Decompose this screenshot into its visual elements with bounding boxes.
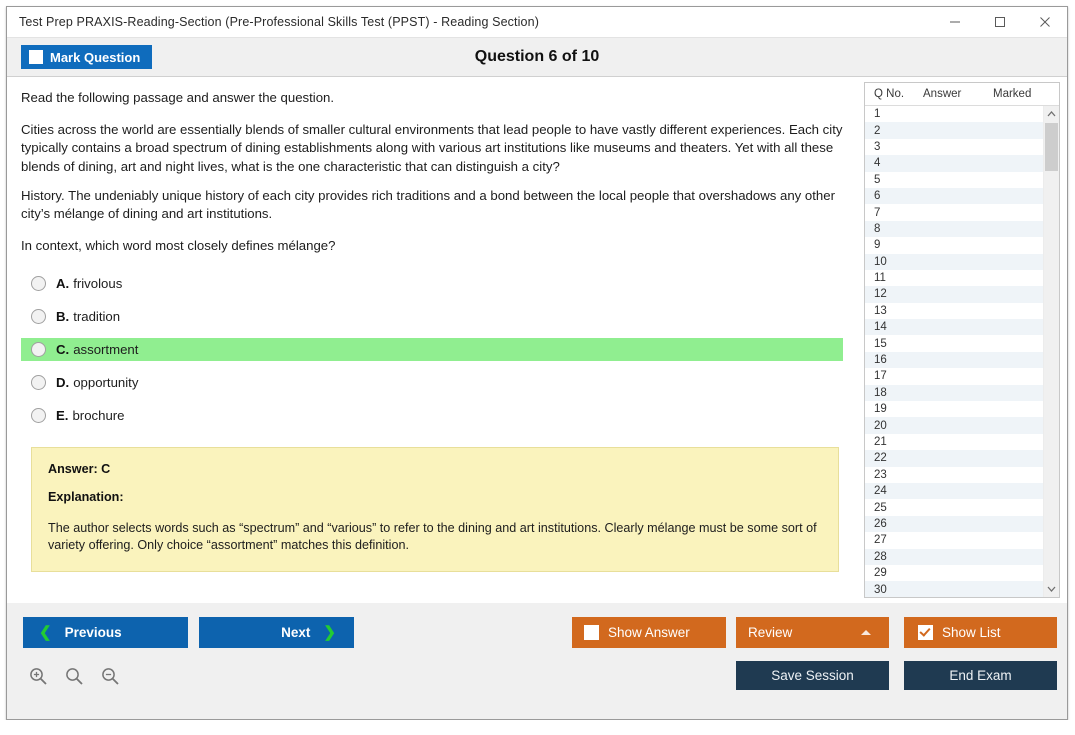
table-row[interactable]: 4 (865, 155, 1043, 171)
table-row[interactable]: 28 (865, 549, 1043, 565)
cell-qno: 12 (865, 288, 923, 300)
previous-label: Previous (65, 625, 122, 640)
answer-choice-b[interactable]: B. tradition (21, 305, 843, 328)
zoom-out-icon[interactable] (97, 663, 123, 689)
table-row[interactable]: 21 (865, 434, 1043, 450)
table-row[interactable]: 18 (865, 385, 1043, 401)
table-row[interactable]: 11 (865, 270, 1043, 286)
end-exam-button[interactable]: End Exam (904, 661, 1057, 690)
table-row[interactable]: 27 (865, 532, 1043, 548)
cell-qno: 27 (865, 534, 923, 546)
table-row[interactable]: 20 (865, 417, 1043, 433)
answer-label: Answer: C (48, 462, 822, 476)
exam-body: Read the following passage and answer th… (7, 76, 1067, 603)
zoom-in-icon[interactable] (25, 663, 51, 689)
column-header-answer: Answer (923, 88, 993, 100)
table-row[interactable]: 16 (865, 352, 1043, 368)
table-row[interactable]: 24 (865, 483, 1043, 499)
table-row[interactable]: 12 (865, 286, 1043, 302)
table-row[interactable]: 30 (865, 581, 1043, 597)
window-title-text: Test Prep PRAXIS-Reading-Section (Pre-Pr… (7, 15, 932, 29)
answer-choice-a[interactable]: A. frivolous (21, 272, 843, 295)
mark-question-button[interactable]: Mark Question (21, 45, 152, 69)
question-list-rows: 1234567891011121314151617181920212223242… (865, 106, 1043, 597)
question-pane: Read the following passage and answer th… (7, 77, 857, 603)
chevron-up-icon (861, 630, 871, 635)
maximize-icon[interactable] (977, 7, 1022, 37)
cell-qno: 9 (865, 239, 923, 251)
answer-choice-e[interactable]: E. brochure (21, 404, 843, 427)
question-list-header: Q No. Answer Marked (865, 83, 1059, 106)
question-list-panel: Q No. Answer Marked 12345678910111213141… (864, 82, 1060, 598)
cell-qno: 10 (865, 256, 923, 268)
cell-qno: 3 (865, 141, 923, 153)
question-stem: In context, which word most closely defi… (21, 237, 843, 255)
show-answer-checkbox-icon (584, 625, 599, 640)
next-label: Next (281, 625, 310, 640)
save-session-label: Save Session (771, 668, 854, 683)
choice-text-a: frivolous (73, 276, 122, 291)
table-row[interactable]: 25 (865, 499, 1043, 515)
table-row[interactable]: 1 (865, 106, 1043, 122)
chevron-right-icon: ❯ (323, 625, 336, 640)
cell-qno: 13 (865, 305, 923, 317)
zoom-reset-icon[interactable] (61, 663, 87, 689)
question-list-scrollbar[interactable] (1043, 106, 1059, 597)
cell-qno: 23 (865, 469, 923, 481)
zoom-controls (25, 663, 123, 689)
choice-text-c: assortment (73, 342, 138, 357)
radio-icon-b[interactable] (31, 309, 46, 324)
cell-qno: 6 (865, 190, 923, 202)
table-row[interactable]: 5 (865, 172, 1043, 188)
exam-application-window: Test Prep PRAXIS-Reading-Section (Pre-Pr… (6, 6, 1068, 720)
table-row[interactable]: 7 (865, 204, 1043, 220)
explanation-label: Explanation: (48, 490, 822, 504)
cell-qno: 18 (865, 387, 923, 399)
choice-letter-e: E. (56, 408, 68, 423)
chevron-left-icon: ❮ (39, 625, 52, 640)
cell-qno: 20 (865, 420, 923, 432)
cell-qno: 30 (865, 584, 923, 596)
cell-qno: 16 (865, 354, 923, 366)
scroll-down-arrow-icon[interactable] (1044, 581, 1059, 597)
choice-letter-c: C. (56, 342, 69, 357)
choice-letter-a: A. (56, 276, 69, 291)
cell-qno: 1 (865, 108, 923, 120)
cell-qno: 26 (865, 518, 923, 530)
cell-qno: 28 (865, 551, 923, 563)
cell-qno: 21 (865, 436, 923, 448)
exam-footer: ❮ Previous Next ❯ Show Answer Review Sho… (7, 603, 1067, 717)
end-exam-label: End Exam (949, 668, 1011, 683)
radio-icon-c[interactable] (31, 342, 46, 357)
cell-qno: 2 (865, 125, 923, 137)
cell-qno: 14 (865, 321, 923, 333)
desktop-taskbar-strip (0, 720, 1075, 735)
mark-question-label: Mark Question (50, 50, 140, 65)
answer-choice-list: A. frivolous B. tradition C. assortment … (21, 272, 843, 427)
table-row[interactable]: 26 (865, 516, 1043, 532)
table-row[interactable]: 19 (865, 401, 1043, 417)
show-answer-label: Show Answer (608, 625, 690, 640)
column-header-qno: Q No. (865, 88, 923, 100)
table-row[interactable]: 17 (865, 368, 1043, 384)
table-row[interactable]: 2 (865, 122, 1043, 138)
cell-qno: 24 (865, 485, 923, 497)
choice-letter-b: B. (56, 309, 69, 324)
table-row[interactable]: 14 (865, 319, 1043, 335)
cell-qno: 4 (865, 157, 923, 169)
show-list-button[interactable]: Show List (904, 617, 1057, 648)
answer-choice-d[interactable]: D. opportunity (21, 371, 843, 394)
minimize-icon[interactable] (932, 7, 977, 37)
table-row[interactable]: 29 (865, 565, 1043, 581)
choice-text-b: tradition (73, 309, 120, 324)
question-list-scroll-area: 1234567891011121314151617181920212223242… (865, 106, 1059, 597)
review-dropdown-button[interactable]: Review (736, 617, 889, 648)
question-prompt: Read the following passage and answer th… (21, 89, 843, 107)
question-counter: Question 6 of 10 (7, 48, 1067, 66)
cell-qno: 22 (865, 452, 923, 464)
review-label: Review (748, 625, 792, 640)
cell-qno: 8 (865, 223, 923, 235)
exam-header-bar: Mark Question Question 6 of 10 (7, 38, 1067, 76)
passage-paragraph-1: Cities across the world are essentially … (21, 121, 843, 176)
cell-qno: 5 (865, 174, 923, 186)
table-row[interactable]: 3 (865, 139, 1043, 155)
choice-text-e: brochure (72, 408, 124, 423)
cell-qno: 29 (865, 567, 923, 579)
previous-button[interactable]: ❮ Previous (23, 617, 188, 648)
table-row[interactable]: 6 (865, 188, 1043, 204)
scroll-up-arrow-icon[interactable] (1044, 106, 1059, 122)
explanation-panel: Answer: C Explanation: The author select… (31, 447, 839, 573)
scrollbar-thumb[interactable] (1045, 123, 1058, 171)
table-row[interactable]: 15 (865, 335, 1043, 351)
window-title-bar: Test Prep PRAXIS-Reading-Section (Pre-Pr… (7, 7, 1067, 38)
radio-icon-d[interactable] (31, 375, 46, 390)
next-button[interactable]: Next ❯ (199, 617, 354, 648)
show-answer-button[interactable]: Show Answer (572, 617, 726, 648)
choice-letter-d: D. (56, 375, 69, 390)
passage-paragraph-2: History. The undeniably unique history o… (21, 187, 843, 223)
answer-choice-c[interactable]: C. assortment (21, 338, 843, 361)
table-row[interactable]: 8 (865, 221, 1043, 237)
cell-qno: 19 (865, 403, 923, 415)
show-list-checkbox-icon (918, 625, 933, 640)
table-row[interactable]: 10 (865, 254, 1043, 270)
cell-qno: 17 (865, 370, 923, 382)
table-row[interactable]: 9 (865, 237, 1043, 253)
save-session-button[interactable]: Save Session (736, 661, 889, 690)
column-header-marked: Marked (993, 88, 1059, 100)
show-list-label: Show List (942, 625, 1001, 640)
table-row[interactable]: 23 (865, 467, 1043, 483)
cell-qno: 25 (865, 502, 923, 514)
radio-icon-e[interactable] (31, 408, 46, 423)
cell-qno: 15 (865, 338, 923, 350)
cell-qno: 7 (865, 207, 923, 219)
choice-text-d: opportunity (73, 375, 138, 390)
mark-question-checkbox-icon (29, 50, 43, 64)
cell-qno: 11 (865, 272, 923, 284)
close-icon[interactable] (1022, 7, 1067, 37)
table-row[interactable]: 13 (865, 303, 1043, 319)
table-row[interactable]: 22 (865, 450, 1043, 466)
radio-icon-a[interactable] (31, 276, 46, 291)
explanation-body: The author selects words such as “spectr… (48, 520, 822, 556)
